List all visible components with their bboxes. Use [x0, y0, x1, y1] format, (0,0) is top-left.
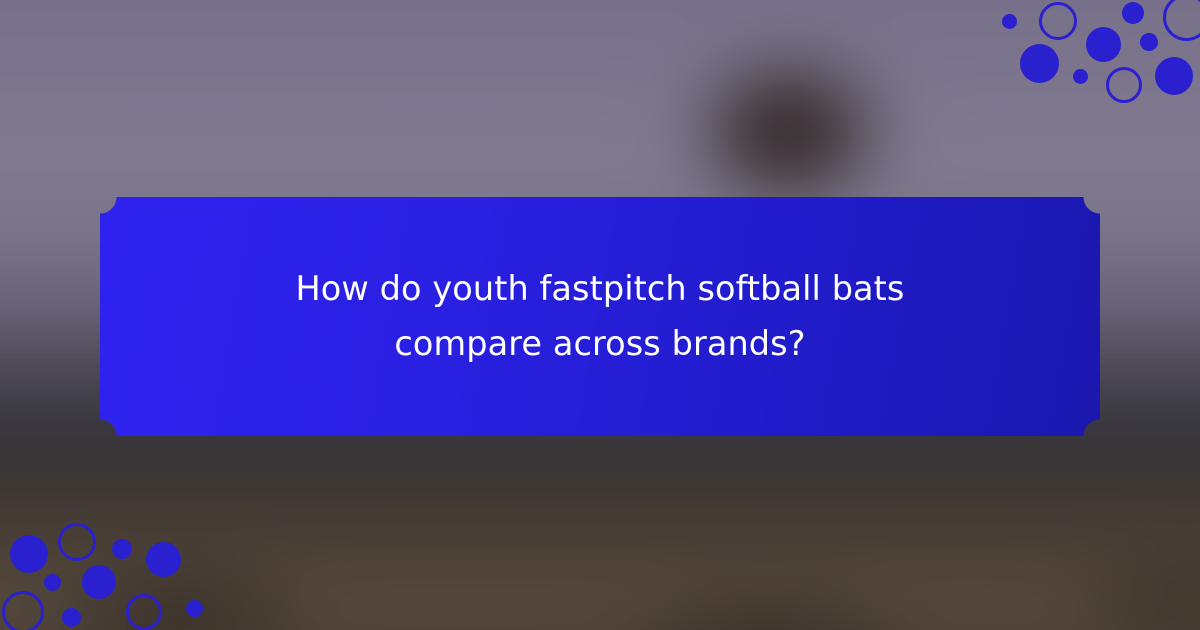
og-image-card: How do youth fastpitch softball bats com… [0, 0, 1200, 630]
title-card: How do youth fastpitch softball bats com… [100, 197, 1100, 436]
page-title: How do youth fastpitch softball bats com… [255, 262, 945, 371]
